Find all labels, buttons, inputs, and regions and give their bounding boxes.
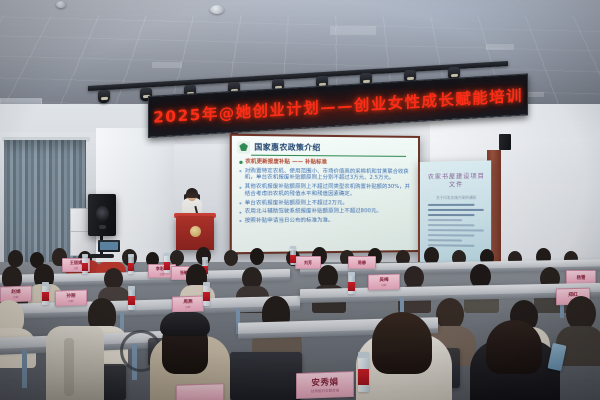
slide-title: 国家惠农政策介绍 <box>254 141 320 153</box>
secondary-display-title: 农家书屋建设项目 文件 <box>428 173 485 190</box>
placard-org: 妇联 <box>381 283 386 287</box>
bottle-cap <box>164 253 170 256</box>
slide-bullet-text: 单台农机报废补贴额原则上不超过2万元。 <box>245 200 348 207</box>
bottle-cap <box>358 352 369 358</box>
bullet-dot-icon <box>239 161 242 164</box>
slide-bullet: 对购置特定农机、使用范围小、市场价值高的采棉机和甘蔗联合收获机，单台农机报废补贴… <box>239 168 412 182</box>
bottle-label <box>348 282 355 291</box>
bottle-label <box>358 369 369 385</box>
name-placard: 吴梅 妇联 <box>368 274 400 291</box>
water-bottle <box>348 272 355 294</box>
bottle-cap <box>203 282 210 286</box>
water-bottle <box>358 352 369 392</box>
slide-body: 农机更新报废补贴 —— 补贴标准 对购置特定农机、使用范围小、市场价值高的采棉机… <box>239 159 412 227</box>
bottle-cap <box>128 286 135 290</box>
slide-title-underline <box>251 155 406 158</box>
slide-bullet: 农用北斗辅助驾驶系统报废补贴额原则上不超过800元。 <box>239 208 412 215</box>
secondary-display-subtitle: 关于印发实施方案的通知 <box>430 196 483 201</box>
bullet-dot-icon <box>239 202 241 204</box>
smoke-detector-icon <box>56 1 66 8</box>
slide-header: 国家惠农政策介绍 <box>237 139 413 156</box>
slide-bullet-text: 其他农机报废补贴额原则上不超过同类型农机购置补贴额的30%，并结合考虑旧农机的残… <box>245 184 412 198</box>
slide-bullet-text: 农用北斗辅助驾驶系统报废补贴额原则上不超过800元。 <box>245 208 382 215</box>
bullet-dot-icon <box>239 186 241 188</box>
ceiling-light-panel <box>152 62 182 68</box>
green-agriculture-emblem-icon <box>237 141 250 154</box>
ceiling-light-panel <box>486 44 514 50</box>
coat-on-chair <box>46 326 104 400</box>
presenter-hair-top <box>186 188 198 198</box>
chair-back <box>230 352 302 400</box>
bullet-dot-icon <box>239 211 241 213</box>
slide-bullet: 单台农机报废补贴额原则上不超过2万元。 <box>239 200 412 207</box>
bottle-cap <box>290 246 296 249</box>
placard-org: 甘肃省妇女联合会 <box>311 388 340 394</box>
text-line <box>428 214 475 216</box>
bottle-cap <box>128 254 134 257</box>
slide-bullet-text: 对购置特定农机、使用范围小、市场价值高的采棉机和甘蔗联合收获机，单台农机报废补贴… <box>245 168 412 182</box>
attendee-hair <box>372 312 432 374</box>
text-line <box>428 219 462 221</box>
attendee-hair <box>486 320 542 374</box>
bottle-cap <box>42 282 49 286</box>
desk-leg <box>22 350 27 388</box>
spotlight-icon <box>98 90 110 111</box>
bottle-cap <box>82 254 88 257</box>
name-placard <box>176 383 224 400</box>
bullet-dot-icon <box>239 220 241 222</box>
text-line <box>428 229 484 231</box>
slide-bullet: 按照补贴申请当日公布的标准为准。 <box>239 217 412 225</box>
name-placard: 安秀娟 甘肃省妇女联合会 <box>296 371 354 399</box>
presentation-slide: 国家惠农政策介绍 农机更新报废补贴 —— 补贴标准 对购置特定农机、使用范围小、… <box>232 136 418 252</box>
text-line <box>428 224 475 226</box>
speaker-cone-icon <box>96 206 109 222</box>
coat-fold <box>64 338 74 396</box>
slide-bullet: 农机更新报废补贴 —— 补贴标准 <box>239 159 412 167</box>
attendee-beret-hat <box>160 312 210 336</box>
smoke-detector-icon <box>210 5 224 14</box>
slide-bullet-text: 农机更新报废补贴 —— 补贴标准 <box>245 159 327 166</box>
ceiling-light-panel <box>330 26 376 35</box>
text-line <box>428 209 484 211</box>
slide-bullet: 其他农机报废补贴额原则上不超过同类型农机购置补贴额的30%，并结合考虑旧农机的残… <box>239 184 412 198</box>
wall-speaker <box>499 134 511 150</box>
bullet-dot-icon <box>239 170 241 172</box>
placard-name: 安秀娟 <box>311 376 338 389</box>
slide-bullet-text: 按照补贴申请当日公布的标准为准。 <box>245 218 334 225</box>
conference-hall-photo: 2025年@她创业计划——创业女性成长赋能培训 国家惠农政策介绍 农机更新报废补… <box>0 0 600 400</box>
text-line <box>428 204 475 206</box>
speaker-tweeter-icon <box>99 225 106 229</box>
bottle-cap <box>348 272 355 276</box>
